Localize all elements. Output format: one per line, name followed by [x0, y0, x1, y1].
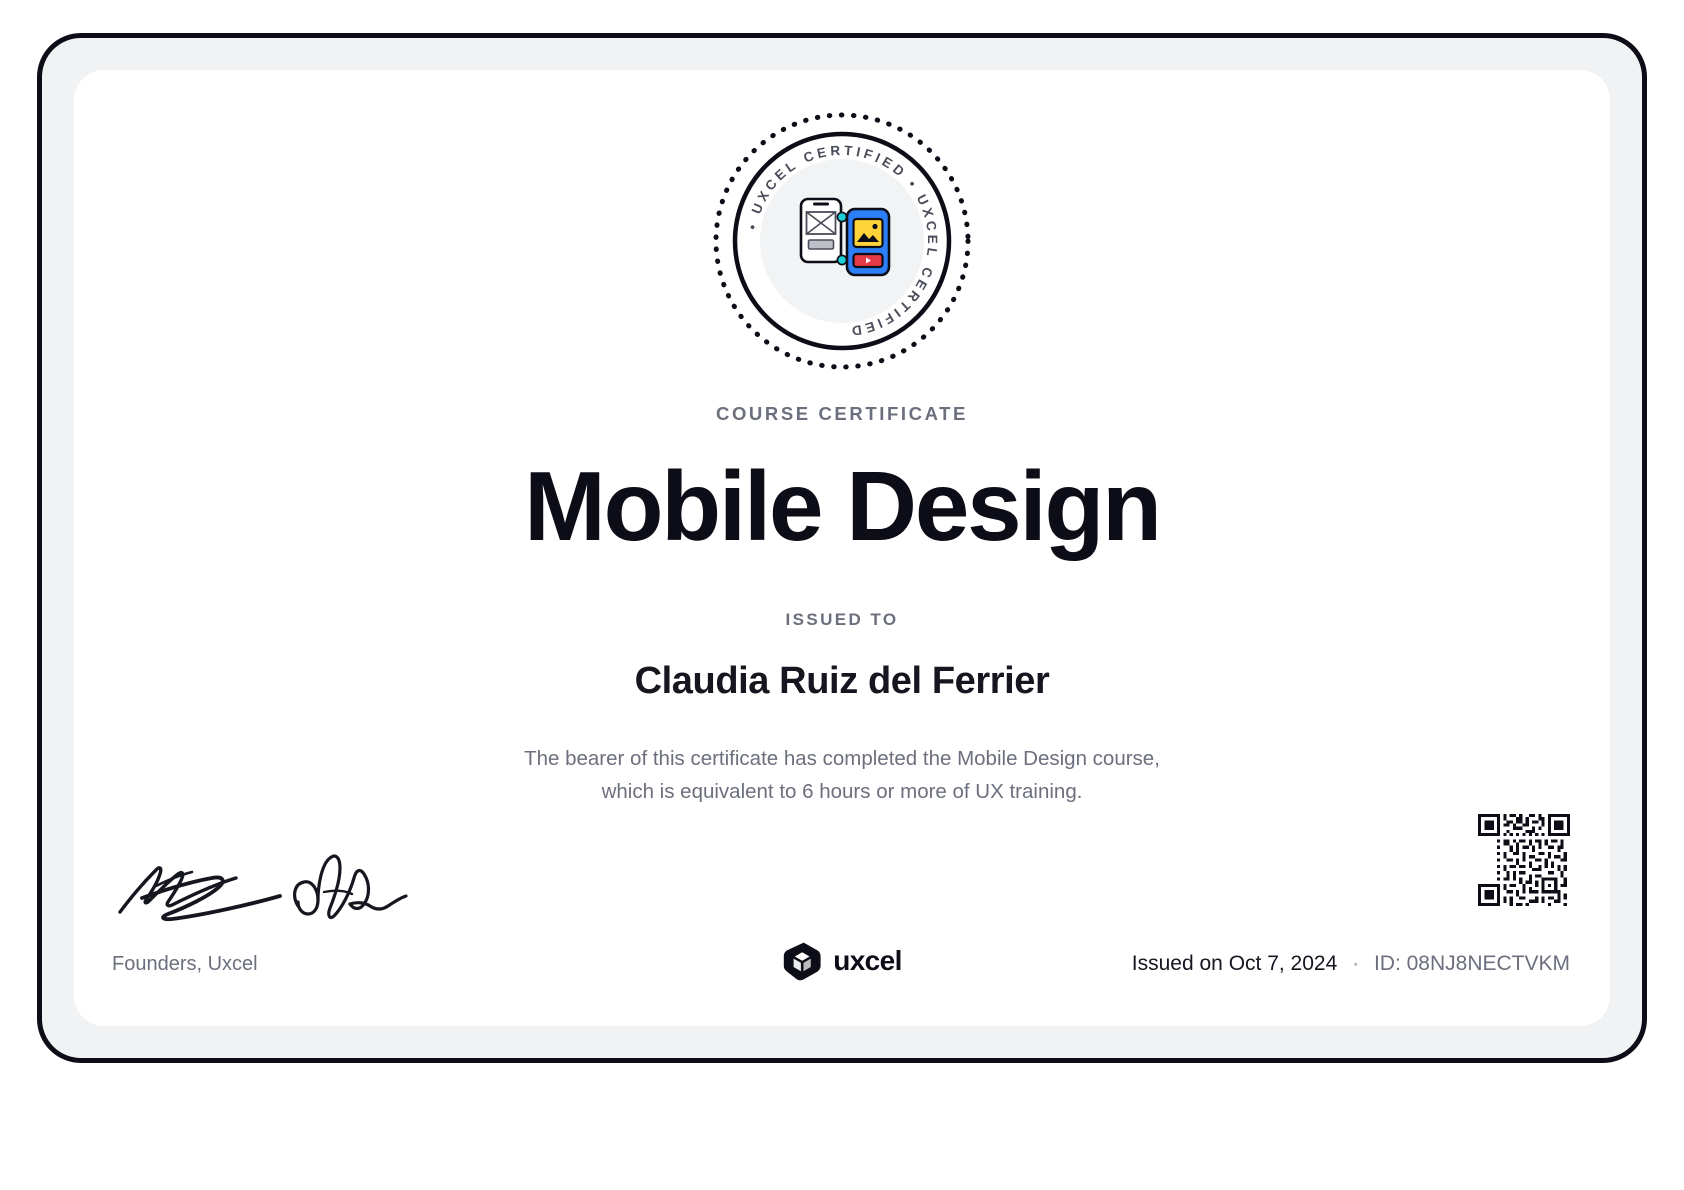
issue-metadata: Issued on Oct 7, 2024 · ID: 08NJ8NECTVKM: [1132, 952, 1570, 976]
issued-on-date: Issued on Oct 7, 2024: [1132, 952, 1337, 975]
uxcel-cube-icon: [782, 941, 822, 981]
recipient-name: Claudia Ruiz del Ferrier: [74, 660, 1610, 703]
description-line-1: The bearer of this certificate has compl…: [524, 747, 1160, 770]
uxcel-logo: uxcel: [782, 941, 902, 981]
verification-qr-code[interactable]: [1478, 814, 1570, 906]
signature-icon: [112, 840, 412, 926]
seal-icon: • UXCEL CERTIFIED • UXCEL CERTIFIED: [707, 106, 977, 376]
description-line-2: which is equivalent to 6 hours or more o…: [602, 780, 1083, 803]
certificate-card: • UXCEL CERTIFIED • UXCEL CERTIFIED: [74, 70, 1610, 1026]
certificate-frame: • UXCEL CERTIFIED • UXCEL CERTIFIED: [37, 33, 1647, 1063]
page-title: Mobile Design: [74, 454, 1610, 560]
qr-code-icon: [1478, 814, 1570, 906]
founders-signatures: [112, 840, 412, 926]
meta-separator: ·: [1352, 952, 1359, 975]
certificate-id: ID: 08NJ8NECTVKM: [1374, 952, 1570, 975]
uxcel-certified-seal-badge: • UXCEL CERTIFIED • UXCEL CERTIFIED: [707, 106, 977, 376]
certificate-description: The bearer of this certificate has compl…: [452, 742, 1232, 808]
uxcel-wordmark: uxcel: [833, 945, 902, 977]
issued-to-eyebrow: ISSUED TO: [74, 610, 1610, 630]
course-certificate-eyebrow: COURSE CERTIFICATE: [74, 403, 1610, 425]
founders-label: Founders, Uxcel: [112, 953, 258, 976]
